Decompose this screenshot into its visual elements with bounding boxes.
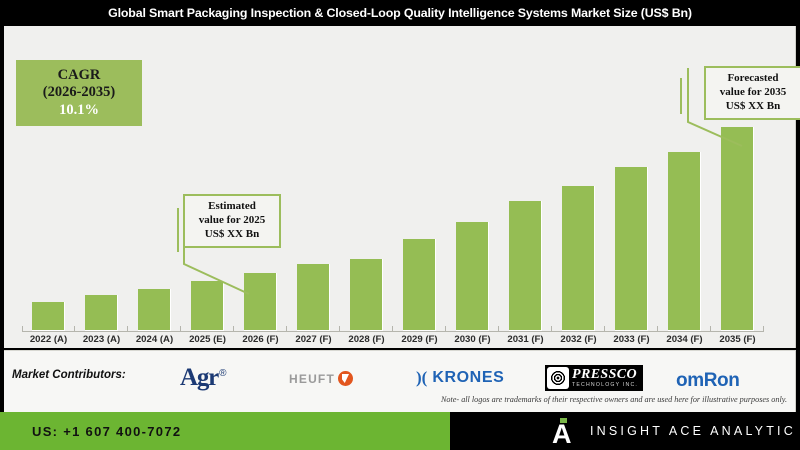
forecasted-line2: value for 2035	[720, 86, 786, 100]
bar[interactable]	[350, 259, 383, 331]
bar[interactable]	[297, 264, 330, 331]
x-axis-tick	[711, 326, 764, 332]
pressco-swirl-icon	[547, 367, 569, 389]
bar-slot	[552, 56, 605, 331]
footer-phone-number[interactable]: US: +1 607 400-7072	[32, 424, 181, 439]
logo-letter-a: A	[552, 421, 572, 448]
footer-bar: US: +1 607 400-7072 A INSIGHT ACE ANALYT…	[0, 412, 800, 450]
x-axis-tick	[446, 326, 499, 332]
bar-slot	[446, 56, 499, 331]
trademark-note: Note- all logos are trademarks of their …	[441, 395, 787, 404]
heuft-logo: HEUFT	[289, 371, 353, 386]
agr-logo: Agr ®	[180, 365, 226, 390]
pressco-logo-subtext: TECHNOLOGY INC.	[572, 383, 638, 388]
bar-slot	[340, 56, 393, 331]
estimated-line3: US$ XX Bn	[205, 228, 259, 242]
cagr-value: 10.1%	[59, 102, 99, 119]
forecasted-line1: Forecasted	[727, 72, 778, 86]
estimated-line2: value for 2025	[199, 214, 265, 228]
insight-ace-a-logo-icon: A	[552, 418, 576, 444]
estimated-value-callout: Estimated value for 2025 US$ XX Bn	[183, 194, 281, 248]
x-axis-tick	[22, 326, 75, 332]
pressco-wordmark: PRESSCO TECHNOLOGY INC.	[572, 368, 638, 388]
agr-logo-text: Agr	[180, 365, 218, 390]
cagr-label-line2: (2026-2035)	[43, 84, 116, 101]
x-axis-tick	[75, 326, 128, 332]
screenshot-root: Global Smart Packaging Inspection & Clos…	[0, 0, 800, 450]
bar[interactable]	[509, 201, 542, 331]
x-axis-tick	[128, 326, 181, 332]
x-axis-ticks	[22, 326, 764, 332]
bar[interactable]	[562, 186, 595, 331]
x-axis-tick	[552, 326, 605, 332]
krones-mark-icon: )(	[416, 369, 427, 386]
x-axis-tick	[658, 326, 711, 332]
agr-registered-icon: ®	[219, 368, 226, 379]
footer-phone-bar: US: +1 607 400-7072	[0, 412, 450, 450]
brand-logo: A INSIGHT ACE ANALYTIC	[552, 412, 796, 450]
chart-panel: 2022 (A)2023 (A)2024 (A)2025 (E)2026 (F)…	[4, 26, 796, 348]
krones-logo-text: KRONES	[432, 370, 504, 386]
heuft-mark-icon	[338, 371, 353, 386]
x-axis-tick	[499, 326, 552, 332]
krones-logo: )( KRONES	[416, 369, 504, 386]
bar-slot	[605, 56, 658, 331]
pressco-logo: PRESSCO TECHNOLOGY INC.	[545, 365, 643, 391]
x-axis-tick	[605, 326, 658, 332]
omron-logo: omRon	[676, 371, 739, 390]
omron-logo-text: omRon	[676, 371, 739, 390]
cagr-callout: CAGR (2026-2035) 10.1%	[16, 60, 142, 126]
cagr-label-line1: CAGR	[58, 67, 101, 84]
x-axis-tick	[340, 326, 393, 332]
chart-title-bar: Global Smart Packaging Inspection & Clos…	[0, 0, 800, 26]
brand-name: INSIGHT ACE ANALYTIC	[590, 424, 796, 438]
bar[interactable]	[403, 239, 436, 331]
bar-slot	[287, 56, 340, 331]
x-axis-tick	[234, 326, 287, 332]
bar-slot	[499, 56, 552, 331]
bar[interactable]	[668, 152, 701, 331]
x-axis-tick	[181, 326, 234, 332]
contributors-label: Market Contributors:	[12, 369, 126, 381]
bar[interactable]	[721, 127, 754, 331]
page-title: Global Smart Packaging Inspection & Clos…	[108, 6, 692, 20]
market-contributors-strip: Market Contributors: Agr ® HEUFT )( KRON…	[4, 350, 796, 412]
x-axis-tick	[393, 326, 446, 332]
forecasted-line3: US$ XX Bn	[726, 100, 780, 114]
x-axis-tick	[287, 326, 340, 332]
bar-slot	[393, 56, 446, 331]
heuft-logo-text: HEUFT	[289, 373, 335, 385]
bar[interactable]	[615, 167, 648, 331]
pressco-logo-text: PRESSCO	[572, 368, 638, 382]
bar[interactable]	[456, 222, 489, 331]
forecasted-value-callout: Forecasted value for 2035 US$ XX Bn	[704, 66, 800, 120]
estimated-line1: Estimated	[208, 200, 256, 214]
